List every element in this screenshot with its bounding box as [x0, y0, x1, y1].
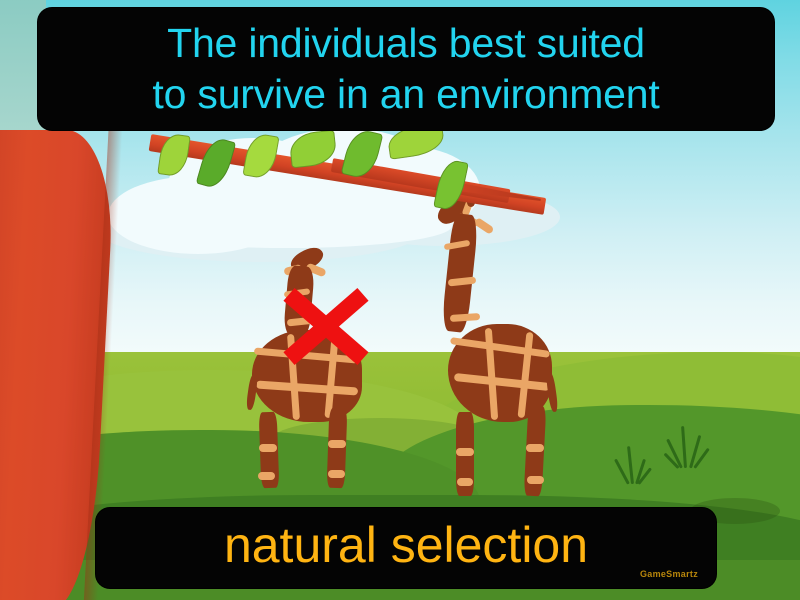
definition-banner: The individuals best suited to survive i…: [38, 8, 774, 130]
definition-line-2: to survive in an environment: [152, 69, 659, 120]
term-label: natural selection: [224, 517, 588, 573]
red-cross-icon: [283, 288, 369, 364]
grass-tuft: [668, 424, 712, 468]
tall-giraffe: [430, 196, 590, 496]
watermark: GameSmartz: [640, 569, 698, 579]
leaf: [242, 132, 279, 181]
definition-line-1: The individuals best suited: [167, 18, 645, 69]
tree-branch-with-leaves: [150, 128, 570, 218]
grass-tuft: [615, 444, 655, 484]
short-giraffe: [244, 248, 394, 488]
term-banner: natural selection GameSmartz: [96, 508, 716, 588]
definition-card: The individuals best suited to survive i…: [0, 0, 800, 600]
leaf: [433, 158, 469, 212]
